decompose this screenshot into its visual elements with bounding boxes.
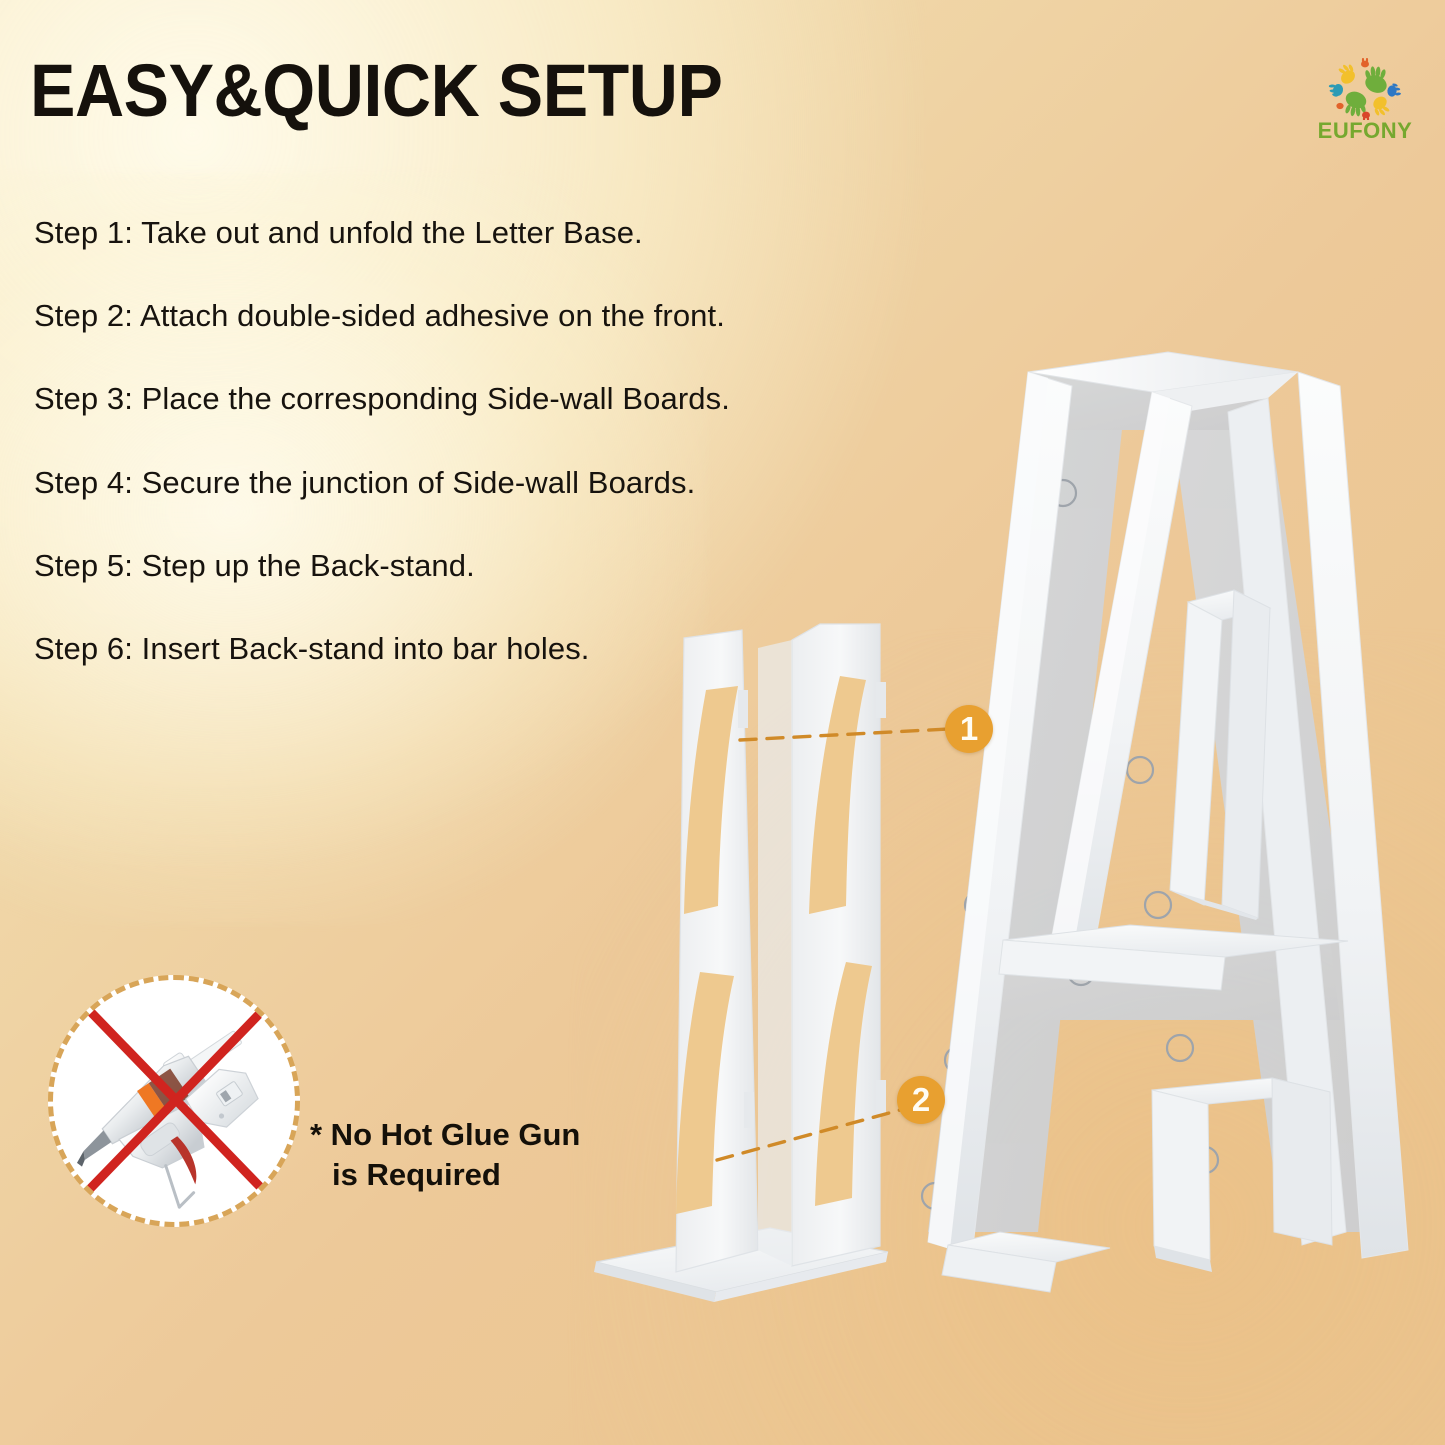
step-item-3: Step 3: Place the corresponding Side-wal… (34, 378, 754, 419)
no-glue-warning: * No Hot Glue Gun is Required (48, 975, 588, 1225)
callout-badge-1: 1 (945, 705, 993, 753)
handprints-circle-icon (1318, 58, 1414, 120)
no-hot-glue-gun-icon (48, 975, 300, 1227)
step-item-1: Step 1: Take out and unfold the Letter B… (34, 212, 754, 253)
instruction-page: EASY&QUICK SETUP (0, 0, 1445, 1445)
step-item-4: Step 4: Secure the junction of Side-wall… (34, 462, 754, 503)
step-item-5: Step 5: Step up the Back-stand. (34, 545, 754, 586)
brand-name: EUFONY (1300, 118, 1430, 144)
step-item-2: Step 2: Attach double-sided adhesive on … (34, 295, 754, 336)
step-item-6: Step 6: Insert Back-stand into bar holes… (34, 628, 754, 669)
no-glue-line-1: * No Hot Glue Gun (310, 1117, 580, 1152)
brand-logo: EUFONY (1300, 58, 1430, 153)
no-glue-line-2: is Required (310, 1155, 590, 1195)
callout-badge-2: 2 (897, 1076, 945, 1124)
background-warm-corner (578, 636, 1445, 1445)
no-glue-warning-text: * No Hot Glue Gun is Required (310, 1115, 590, 1194)
page-title: EASY&QUICK SETUP (30, 48, 722, 133)
steps-list: Step 1: Take out and unfold the Letter B… (34, 212, 754, 669)
